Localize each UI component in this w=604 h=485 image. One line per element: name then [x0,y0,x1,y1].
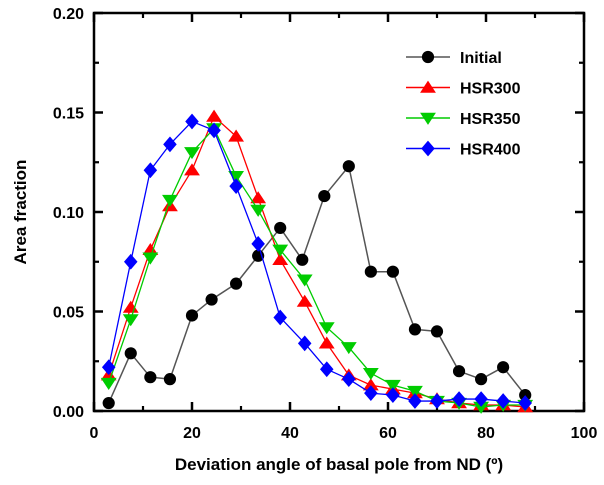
y-tick-label: 0.20 [53,6,84,23]
y-tick-label: 0.05 [53,305,84,322]
chart-figure: 020406080100 0.000.050.100.150.20 Initia… [0,0,604,485]
legend-label: HSR400 [460,142,521,159]
legend-marker [422,51,433,62]
data-point [498,362,509,373]
x-axis-title: Deviation angle of basal pole from ND (º… [175,455,503,474]
data-point [365,266,376,277]
x-tick-label: 80 [477,425,495,442]
data-point [409,324,420,335]
x-tick-label: 40 [281,425,299,442]
data-point [297,254,308,265]
data-point [476,374,487,385]
data-point [453,366,464,377]
data-point [343,161,354,172]
legend-label: Initial [460,50,502,67]
data-point [164,374,175,385]
y-axis-tick-labels: 0.000.050.100.150.20 [53,6,84,421]
data-point [431,326,442,337]
x-tick-label: 100 [571,425,598,442]
x-tick-label: 60 [379,425,397,442]
data-point [145,372,156,383]
y-tick-label: 0.00 [53,404,84,421]
y-axis-title: Area fraction [11,160,30,265]
data-point [103,397,114,408]
legend-label: HSR300 [460,81,521,98]
y-tick-label: 0.10 [53,205,84,222]
data-point [206,294,217,305]
data-point [125,348,136,359]
data-point [319,190,330,201]
x-tick-label: 20 [183,425,201,442]
data-point [275,222,286,233]
data-point [186,310,197,321]
data-point [387,266,398,277]
chart-canvas: 020406080100 0.000.050.100.150.20 Initia… [0,0,604,485]
legend-label: HSR350 [460,111,521,128]
x-axis-tick-labels: 020406080100 [90,425,598,442]
y-tick-label: 0.15 [53,106,84,123]
data-point [231,278,242,289]
x-tick-label: 0 [90,425,99,442]
